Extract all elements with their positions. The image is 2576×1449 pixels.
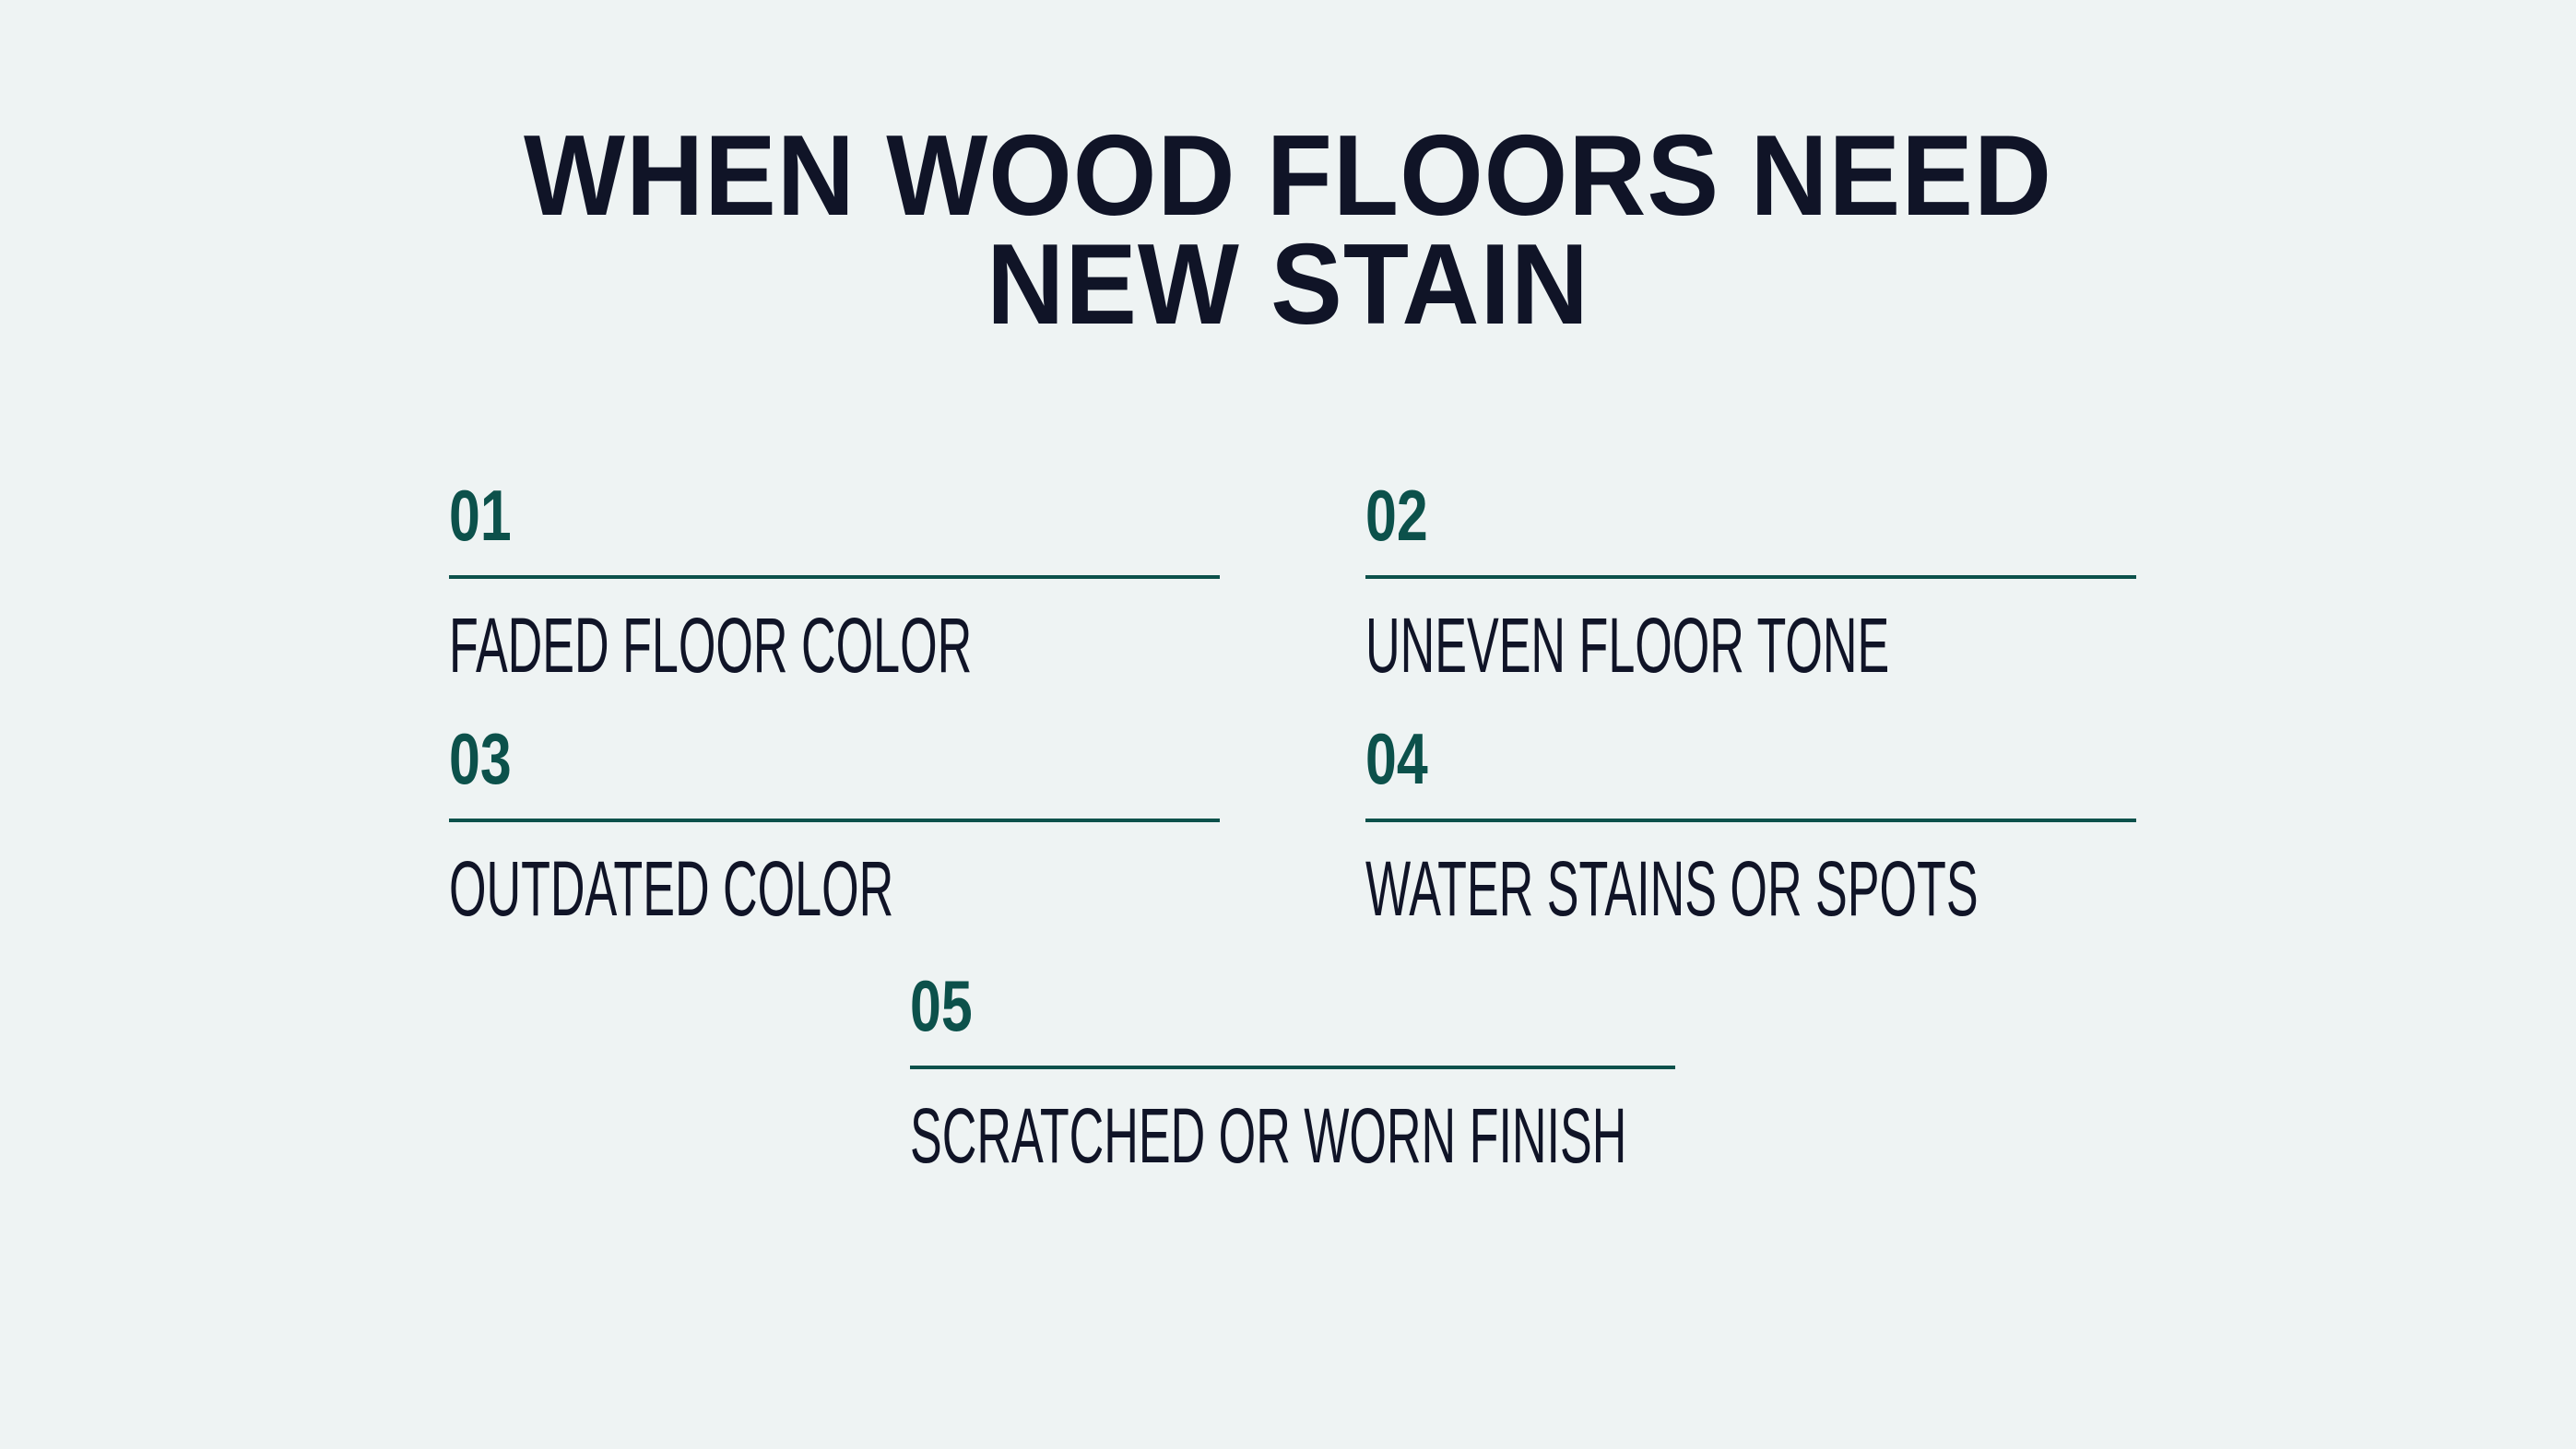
item-number: 04 xyxy=(1365,723,1967,795)
infographic-poster: WHEN WOOD FLOORS NEED NEW STAIN 01 FADED… xyxy=(0,0,2576,1449)
item-number: 03 xyxy=(449,723,1050,795)
items-row-1: 01 FADED FLOOR COLOR 02 UNEVEN FLOOR TON… xyxy=(449,479,2136,688)
list-item-05: 05 SCRATCHED OR WORN FINISH xyxy=(910,970,1675,1178)
item-label: FADED FLOOR COLOR xyxy=(449,607,927,688)
item-number: 02 xyxy=(1365,479,1967,551)
page-title-line-2: NEW STAIN xyxy=(77,230,2499,339)
item-divider xyxy=(449,819,1220,822)
item-divider xyxy=(1365,819,2136,822)
page-title: WHEN WOOD FLOORS NEED NEW STAIN xyxy=(0,122,2576,339)
page-title-line-1: WHEN WOOD FLOORS NEED xyxy=(77,122,2499,230)
list-item-02: 02 UNEVEN FLOOR TONE xyxy=(1365,479,2136,688)
items-row-3: 05 SCRATCHED OR WORN FINISH xyxy=(449,970,2136,1178)
items-row-2: 03 OUTDATED COLOR 04 WATER STAINS OR SPO… xyxy=(449,723,2136,931)
item-label: OUTDATED COLOR xyxy=(449,850,927,931)
list-item-01: 01 FADED FLOOR COLOR xyxy=(449,479,1220,688)
item-label: SCRATCHED OR WORN FINISH xyxy=(910,1097,1385,1178)
list-item-03: 03 OUTDATED COLOR xyxy=(449,723,1220,931)
item-number: 05 xyxy=(910,970,1507,1042)
items-list: 01 FADED FLOOR COLOR 02 UNEVEN FLOOR TON… xyxy=(449,479,2136,1178)
item-number: 01 xyxy=(449,479,1050,551)
item-divider xyxy=(1365,575,2136,579)
list-item-04: 04 WATER STAINS OR SPOTS xyxy=(1365,723,2136,931)
item-label: WATER STAINS OR SPOTS xyxy=(1365,850,1843,931)
item-divider xyxy=(910,1066,1675,1069)
item-divider xyxy=(449,575,1220,579)
item-label: UNEVEN FLOOR TONE xyxy=(1365,607,1843,688)
